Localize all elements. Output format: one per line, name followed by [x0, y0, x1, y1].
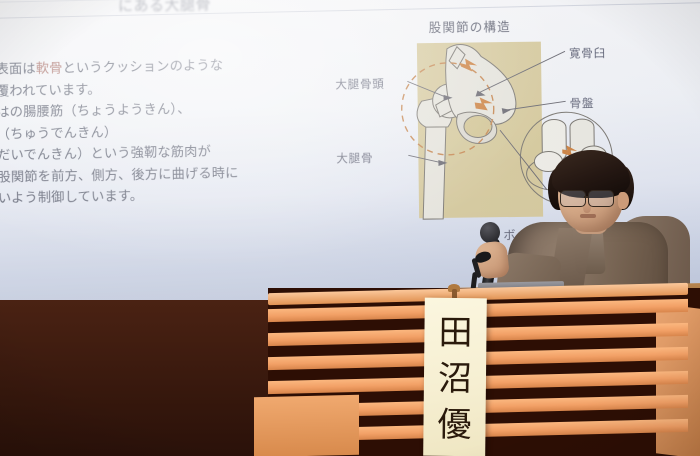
label-femur: 大腿骨 [336, 150, 373, 166]
placard-char-3: 優 [437, 402, 471, 448]
label-pelvis: 骨盤 [570, 95, 595, 111]
name-placard: 田 沼 優 [423, 298, 487, 456]
line1-highlight: 軟骨 [36, 60, 63, 75]
lecture-photo: にある大腿骨 節の表面は軟骨というクッションのような 織で覆われています。 周に… [0, 0, 700, 456]
slide-line-7: しないよう制御しています。 [0, 182, 301, 210]
glasses-right-lens [588, 190, 614, 207]
line1-post: というクッションのような [62, 57, 223, 75]
speaker-ear [618, 192, 629, 209]
stage-backdrop-left [0, 300, 275, 456]
speaker-mouth [580, 214, 596, 218]
label-femoral-head: 大腿骨頭 [335, 76, 384, 93]
placard-char-2: 沼 [438, 356, 472, 402]
podium-left-panel [254, 395, 359, 456]
slide-heading-partial: にある大腿骨 [118, 0, 211, 16]
placard-char-1: 田 [438, 310, 472, 356]
line1-pre: 節の表面は [0, 61, 36, 77]
glasses-bridge [584, 196, 589, 198]
glasses-left-lens [560, 190, 586, 207]
slide-body-text: 節の表面は軟骨というクッションのような 織で覆われています。 周にはの腸腰筋（ち… [0, 53, 301, 210]
label-acetabulum: 寛骨臼 [569, 45, 606, 61]
